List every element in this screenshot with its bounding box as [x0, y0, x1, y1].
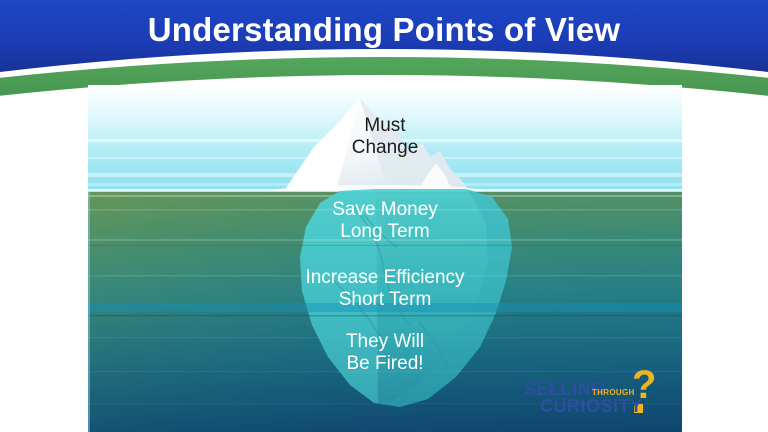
selling-through-curiosity-logo: ? SELLING THROUGH CURIOSITY	[514, 364, 674, 420]
logo-graphic: ? SELLING THROUGH CURIOSITY	[514, 364, 674, 420]
slide-canvas: Understanding Points of View	[0, 0, 768, 432]
logo-word-curiosity: CURIOSITY	[540, 396, 643, 416]
page-title: Understanding Points of View	[0, 8, 768, 52]
iceberg-illustration: Must Change Save Money Long Term Increas…	[88, 85, 682, 432]
